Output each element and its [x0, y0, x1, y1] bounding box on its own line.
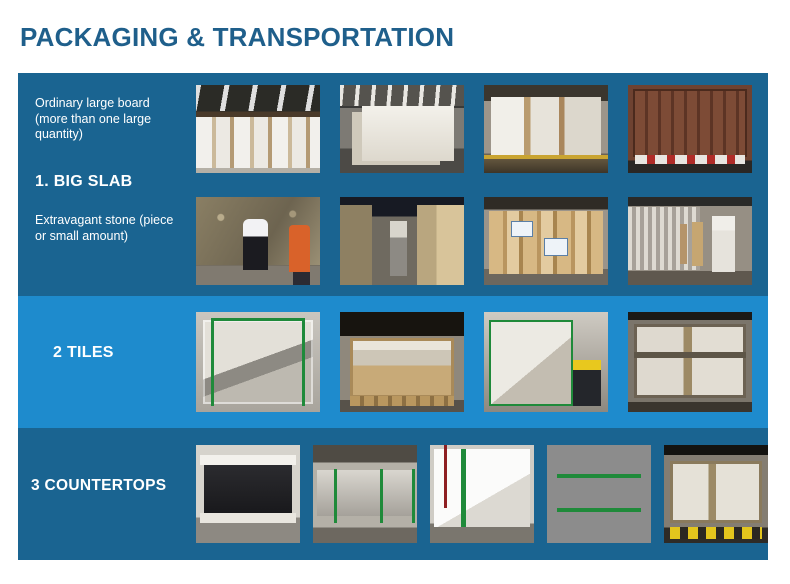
photo-shipping-container-doors-image — [628, 85, 752, 173]
photo-pallet-crate-dark[interactable] — [340, 312, 464, 412]
photo-truck-loading-slabs-image — [340, 85, 464, 173]
photo-warehouse-wrapped-slabs-image — [196, 85, 320, 173]
photo-workers-granite-slab[interactable] — [196, 197, 320, 285]
photo-row-tiles — [18, 296, 768, 428]
photo-container-worker-frames[interactable] — [628, 197, 752, 285]
photo-warehouse-wrapped-slabs[interactable] — [196, 85, 320, 173]
photo-wooden-crates-labels-image — [484, 197, 608, 285]
photo-slab-aisle-worker-image — [340, 197, 464, 285]
photo-grey-slabs-green-straps-image — [313, 445, 417, 543]
photo-black-countertop-slab-image — [196, 445, 300, 543]
photo-white-wrapped-bundle-image — [430, 445, 534, 543]
photo-white-wrapped-bundle[interactable] — [430, 445, 534, 543]
photo-truck-loading-slabs[interactable] — [340, 85, 464, 173]
photo-wooden-crates-strapped-image — [547, 445, 651, 543]
photo-container-loaded-crates[interactable] — [628, 312, 752, 412]
photo-row-ordinary — [18, 73, 768, 185]
photo-container-loaded-countertops[interactable] — [664, 445, 768, 543]
photo-container-slab-frames[interactable] — [484, 85, 608, 173]
photo-row-extravagant — [18, 185, 768, 296]
packaging-panel: Ordinary large board (more than one larg… — [18, 73, 768, 560]
photo-crate-loading-worker-image — [484, 312, 608, 412]
photo-wooden-crates-labels[interactable] — [484, 197, 608, 285]
photo-crate-loading-worker[interactable] — [484, 312, 608, 412]
photo-row-countertops — [18, 428, 768, 560]
photo-grey-slabs-green-straps[interactable] — [313, 445, 417, 543]
photo-black-countertop-slab[interactable] — [196, 445, 300, 543]
photo-container-loaded-countertops-image — [664, 445, 768, 543]
photo-tile-bundle-strapped[interactable] — [196, 312, 320, 412]
photo-pallet-crate-dark-image — [340, 312, 464, 412]
photo-container-worker-frames-image — [628, 197, 752, 285]
photo-workers-granite-slab-image — [196, 197, 320, 285]
photo-slab-aisle-worker[interactable] — [340, 197, 464, 285]
photo-container-loaded-crates-image — [628, 312, 752, 412]
photo-container-slab-frames-image — [484, 85, 608, 173]
photo-wooden-crates-strapped[interactable] — [547, 445, 651, 543]
page-title: PACKAGING & TRANSPORTATION — [20, 22, 454, 53]
photo-shipping-container-doors[interactable] — [628, 85, 752, 173]
photo-tile-bundle-strapped-image — [196, 312, 320, 412]
